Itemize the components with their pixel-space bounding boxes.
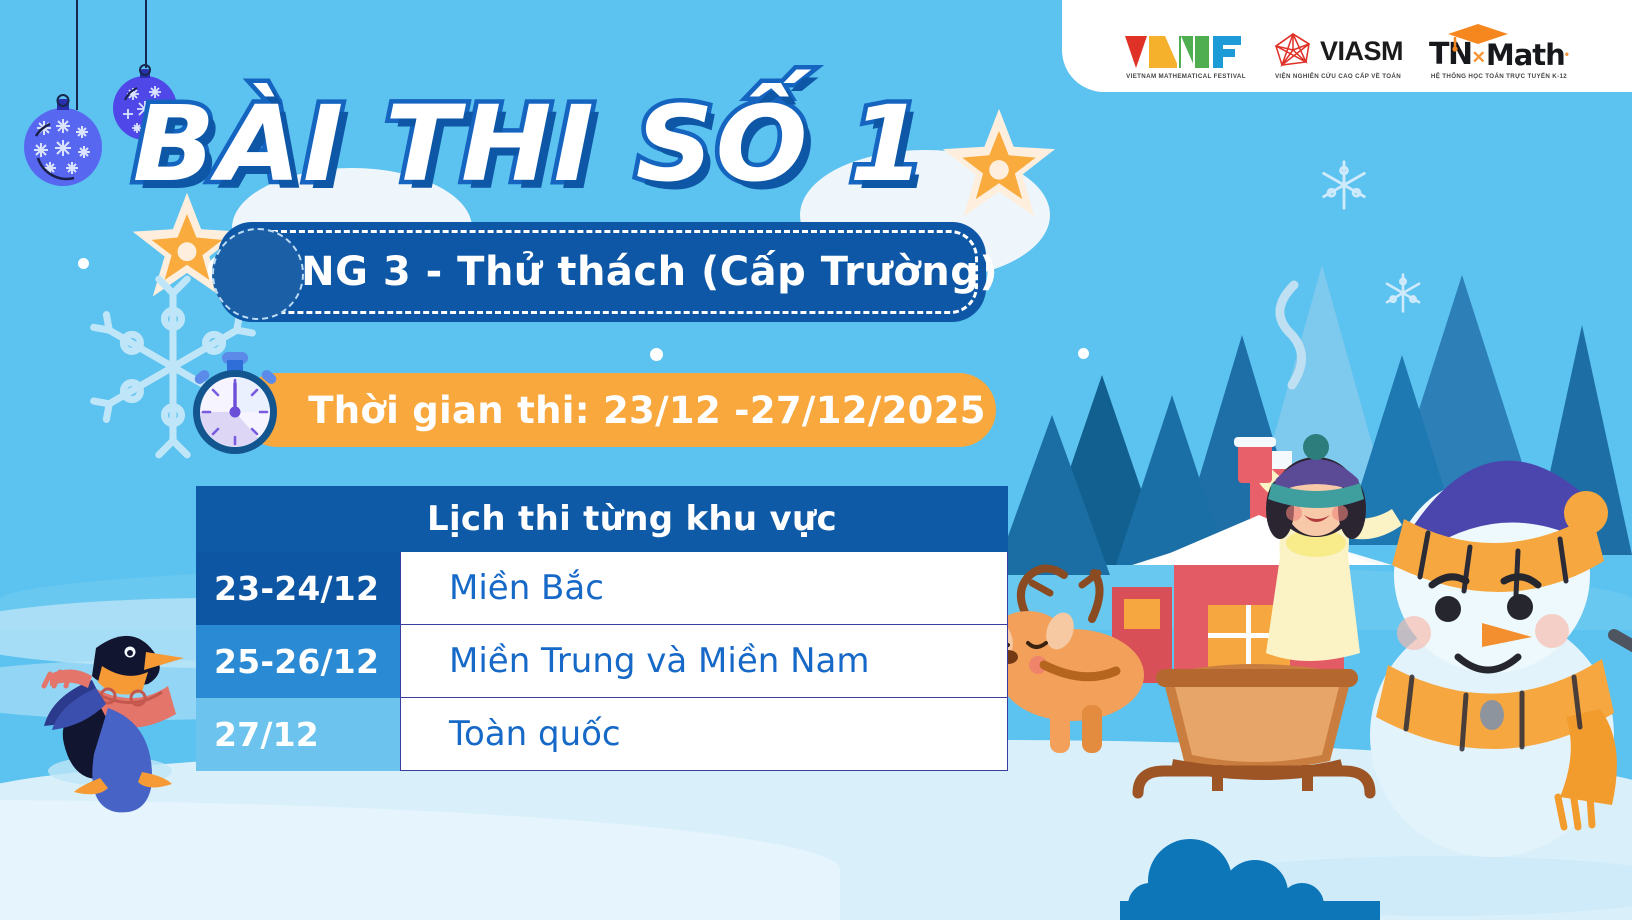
- table-row: 23-24/12 Miền Bắc: [196, 552, 1008, 625]
- schedule-table: Lịch thi từng khu vực 23-24/12 Miền Bắc …: [196, 486, 1008, 771]
- schedule-table-header: Lịch thi từng khu vực: [196, 486, 1008, 552]
- exam-time-banner: Thời gian thi: 23/12 -27/12/2025: [240, 373, 996, 447]
- schedule-date-cell: 25-26/12: [196, 625, 400, 698]
- main-title-wrap: BÀI THI SỐ 1: [0, 92, 1060, 196]
- schedule-region-cell: Miền Bắc: [400, 552, 1008, 625]
- stage-subtitle-text: CHẶNG 3 - Thử thách (Cấp Trường): [206, 249, 998, 295]
- stage-subtitle-badge: CHẶNG 3 - Thử thách (Cấp Trường): [218, 222, 986, 322]
- viasm-wordmark: VIASM: [1320, 38, 1403, 65]
- vnmf-caption: VIETNAM MATHEMATICAL FESTIVAL: [1126, 73, 1246, 80]
- schedule-header-label: Lịch thi từng khu vực: [367, 499, 837, 539]
- poster-canvas: VIETNAM MATHEMATICAL FESTIVAL VIASM VIỆN…: [0, 0, 1632, 920]
- star-decoration-right: [938, 106, 1060, 229]
- schedule-date-cell: 23-24/12: [196, 552, 400, 625]
- sponsor-logo-panel: VIETNAM MATHEMATICAL FESTIVAL VIASM VIỆN…: [1062, 0, 1632, 92]
- vnmf-mark-icon: [1125, 36, 1247, 70]
- penguin-illustration: [38, 596, 188, 801]
- schedule-region-cell: Miền Trung và Miền Nam: [400, 625, 1008, 698]
- snow-dot-1: [78, 258, 89, 269]
- vnmf-logo: VIETNAM MATHEMATICAL FESTIVAL: [1125, 36, 1247, 80]
- table-row: 27/12 Toàn quốc: [196, 698, 1008, 771]
- tnmath-caption: HỆ THỐNG HỌC TOÁN TRỰC TUYẾN K-12: [1431, 73, 1567, 80]
- bauble-ornament-3: [212, 228, 304, 320]
- snowflake-small-1: [1315, 156, 1373, 219]
- bauble-ring-icon: [139, 64, 151, 76]
- viasm-row: VIASM: [1273, 32, 1403, 70]
- schedule-date-cell: 27/12: [196, 698, 400, 771]
- tnmath-x-icon: ✕: [1472, 48, 1486, 68]
- winter-scene-illustration: [992, 265, 1632, 825]
- tnmath-dot-icon: •: [1565, 47, 1569, 61]
- snow-dot-2: [650, 348, 663, 361]
- viasm-logo: VIASM VIỆN NGHIÊN CỨU CAO CẤP VỀ TOÁN: [1273, 32, 1403, 80]
- viasm-caption: VIỆN NGHIÊN CỨU CAO CẤP VỀ TOÁN: [1275, 73, 1401, 80]
- stopwatch-icon: [182, 352, 288, 458]
- bush-shape: [1120, 835, 1380, 920]
- ornament-string-2: [145, 0, 147, 68]
- exam-time-text: Thời gian thi: 23/12 -27/12/2025: [250, 389, 986, 432]
- page-title: BÀI THI SỐ 1: [133, 92, 927, 196]
- sleigh-illustration: [1138, 664, 1370, 793]
- tnmath-logo: TN ✕ Math • HỆ THỐNG HỌC TOÁN TRỰC TUYẾN…: [1429, 40, 1569, 80]
- table-row: 25-26/12 Miền Trung và Miền Nam: [196, 625, 1008, 698]
- schedule-region-cell: Toàn quốc: [400, 698, 1008, 771]
- viasm-polyhedron-icon: [1273, 32, 1313, 70]
- bauble-dashed-ring: [212, 228, 304, 320]
- tnmath-row: TN ✕ Math •: [1429, 40, 1569, 70]
